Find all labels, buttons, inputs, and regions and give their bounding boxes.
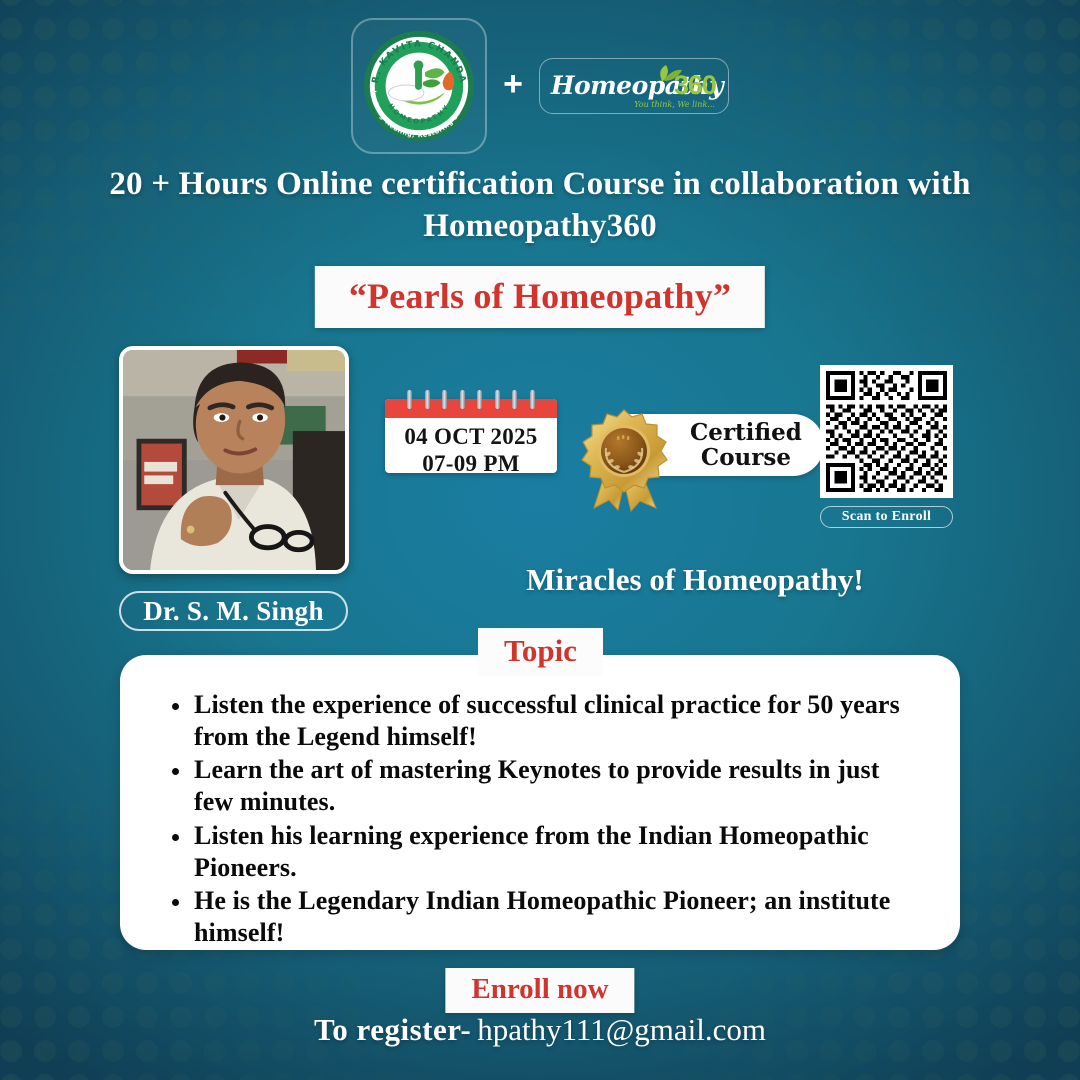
brand-logo-card: DR. KAVITA CHANDAK HOMEOPATHY Igniting H… xyxy=(351,18,487,154)
dr-kavita-chandak-logo-icon: DR. KAVITA CHANDAK HOMEOPATHY Igniting H… xyxy=(360,27,478,145)
qr-block[interactable]: Scan to Enroll xyxy=(820,365,953,528)
qr-label-text: Scan to Enroll xyxy=(842,509,932,525)
register-label: To register- xyxy=(314,1012,471,1047)
date-badge: 04 OCT 2025 07-09 PM xyxy=(385,399,557,473)
register-email[interactable]: hpathy111@gmail.com xyxy=(477,1012,766,1047)
enroll-now-button[interactable]: Enroll now xyxy=(445,968,634,1013)
qr-code[interactable] xyxy=(820,365,953,498)
event-time: 07-09 PM xyxy=(385,451,557,478)
award-medal-icon xyxy=(576,408,672,512)
certified-line-1: Certified xyxy=(690,420,802,445)
list-item: He is the Legendary Indian Homeopathic P… xyxy=(164,885,920,948)
register-line: To register-hpathy111@gmail.com xyxy=(0,1012,1080,1048)
partner-logo-tagline: You think, We link... xyxy=(634,100,715,109)
section-subtitle: Miracles of Homeopathy! xyxy=(400,562,990,598)
certified-course-badge: Certified Course xyxy=(576,408,672,512)
course-title-banner: “Pearls of Homeopathy” xyxy=(315,266,765,328)
certified-line-2: Course xyxy=(701,445,791,470)
calendar-rings xyxy=(385,390,557,410)
topic-tab: Topic xyxy=(478,628,603,676)
topic-card: Listen the experience of successful clin… xyxy=(120,655,960,950)
course-title-text: “Pearls of Homeopathy” xyxy=(349,276,731,316)
list-item: Learn the art of mastering Keynotes to p… xyxy=(164,754,920,817)
partner-logo-number: 360 xyxy=(674,70,716,101)
page-title: 20 + Hours Online certification Course i… xyxy=(60,164,1020,247)
enroll-now-label: Enroll now xyxy=(471,973,608,1005)
poster-root: DR. KAVITA CHANDAK HOMEOPATHY Igniting H… xyxy=(0,0,1080,1080)
event-date: 04 OCT 2025 xyxy=(385,424,557,451)
topic-tab-label: Topic xyxy=(504,633,577,668)
qr-label: Scan to Enroll xyxy=(820,506,953,528)
plus-separator: + xyxy=(503,67,523,105)
partner-logo-card: Homeopathy 360 You think, We link... xyxy=(539,58,729,114)
speaker-name: Dr. S. M. Singh xyxy=(143,596,324,627)
speaker-photo xyxy=(119,346,349,574)
topic-list: Listen the experience of successful clin… xyxy=(164,689,920,949)
speaker-name-plate: Dr. S. M. Singh xyxy=(119,591,348,631)
list-item: Listen his learning experience from the … xyxy=(164,820,920,883)
logo-row: DR. KAVITA CHANDAK HOMEOPATHY Igniting H… xyxy=(0,18,1080,154)
list-item: Listen the experience of successful clin… xyxy=(164,689,920,752)
